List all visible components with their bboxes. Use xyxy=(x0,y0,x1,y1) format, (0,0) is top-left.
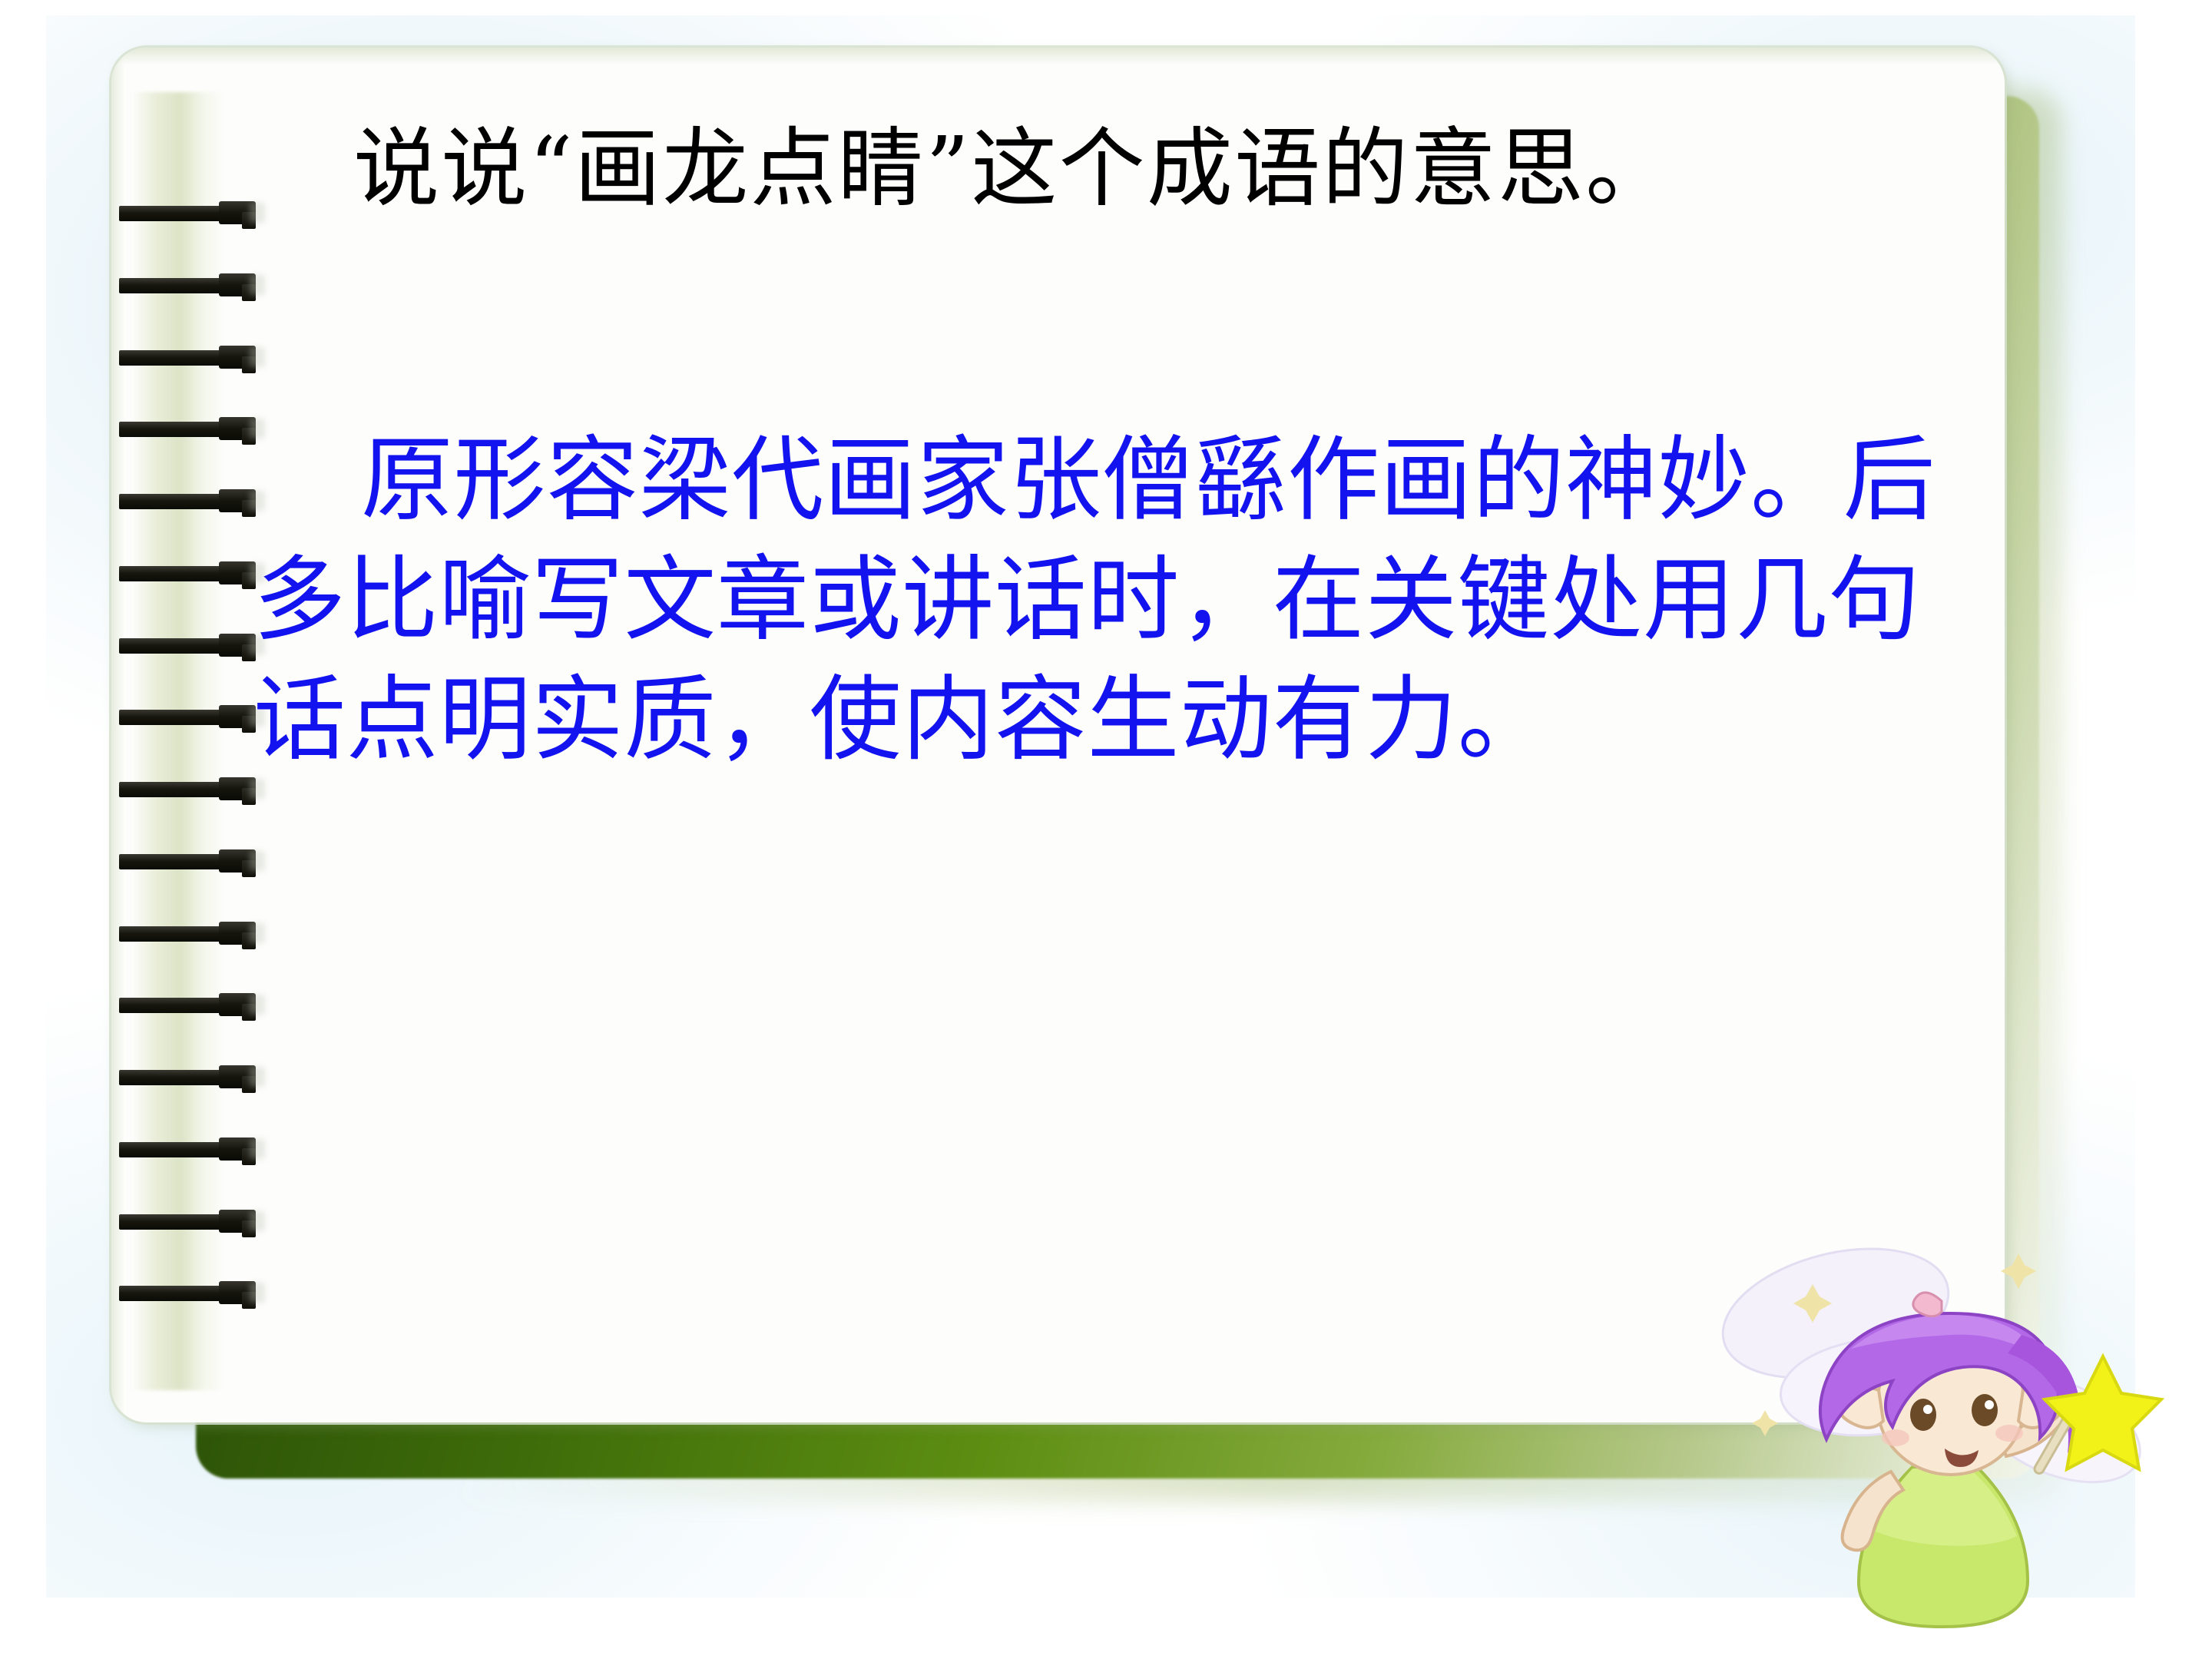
spiral-ring-highlight xyxy=(250,851,265,871)
spiral-ring-highlight xyxy=(250,1067,265,1087)
spiral-ring xyxy=(119,489,269,510)
spiral-ring xyxy=(119,273,269,294)
spiral-ring xyxy=(119,993,269,1014)
spiral-ring xyxy=(119,1210,269,1230)
spiral-ring-highlight xyxy=(250,995,265,1015)
slide-canvas: 说说“画龙点睛”这个成语的意思。 原形容梁代画家张僧繇作画的神妙。后多比喻写文章… xyxy=(0,0,2212,1659)
spiral-ring-highlight xyxy=(250,1283,265,1303)
spiral-ring xyxy=(119,777,269,798)
slide-content: 说说“画龙点睛”这个成语的意思。 原形容梁代画家张僧繇作画的神妙。后多比喻写文章… xyxy=(253,115,1959,780)
page-title: 说说“画龙点睛”这个成语的意思。 xyxy=(253,115,1959,223)
fairy-clipart xyxy=(1720,1198,2197,1659)
spiral-ring-highlight xyxy=(250,1139,265,1159)
spiral-ring xyxy=(119,922,269,942)
spiral-ring xyxy=(119,561,269,582)
spiral-ring xyxy=(119,417,269,438)
spiral-ring xyxy=(119,849,269,870)
spiral-ring xyxy=(119,1281,269,1302)
spiral-ring xyxy=(119,1065,269,1086)
spiral-ring xyxy=(119,634,269,654)
spiral-ring xyxy=(119,201,269,222)
spiral-ring xyxy=(119,1137,269,1158)
spiral-ring xyxy=(119,346,269,366)
spiral-ring-highlight xyxy=(250,1211,265,1231)
idiom-explanation-paragraph: 原形容梁代画家张僧繇作画的神妙。后多比喻写文章或讲话时，在关键处用几句话点明实质… xyxy=(253,421,1959,780)
spiral-ring-highlight xyxy=(250,923,265,943)
spiral-ring xyxy=(119,705,269,726)
spiral-ring-highlight xyxy=(250,779,265,799)
